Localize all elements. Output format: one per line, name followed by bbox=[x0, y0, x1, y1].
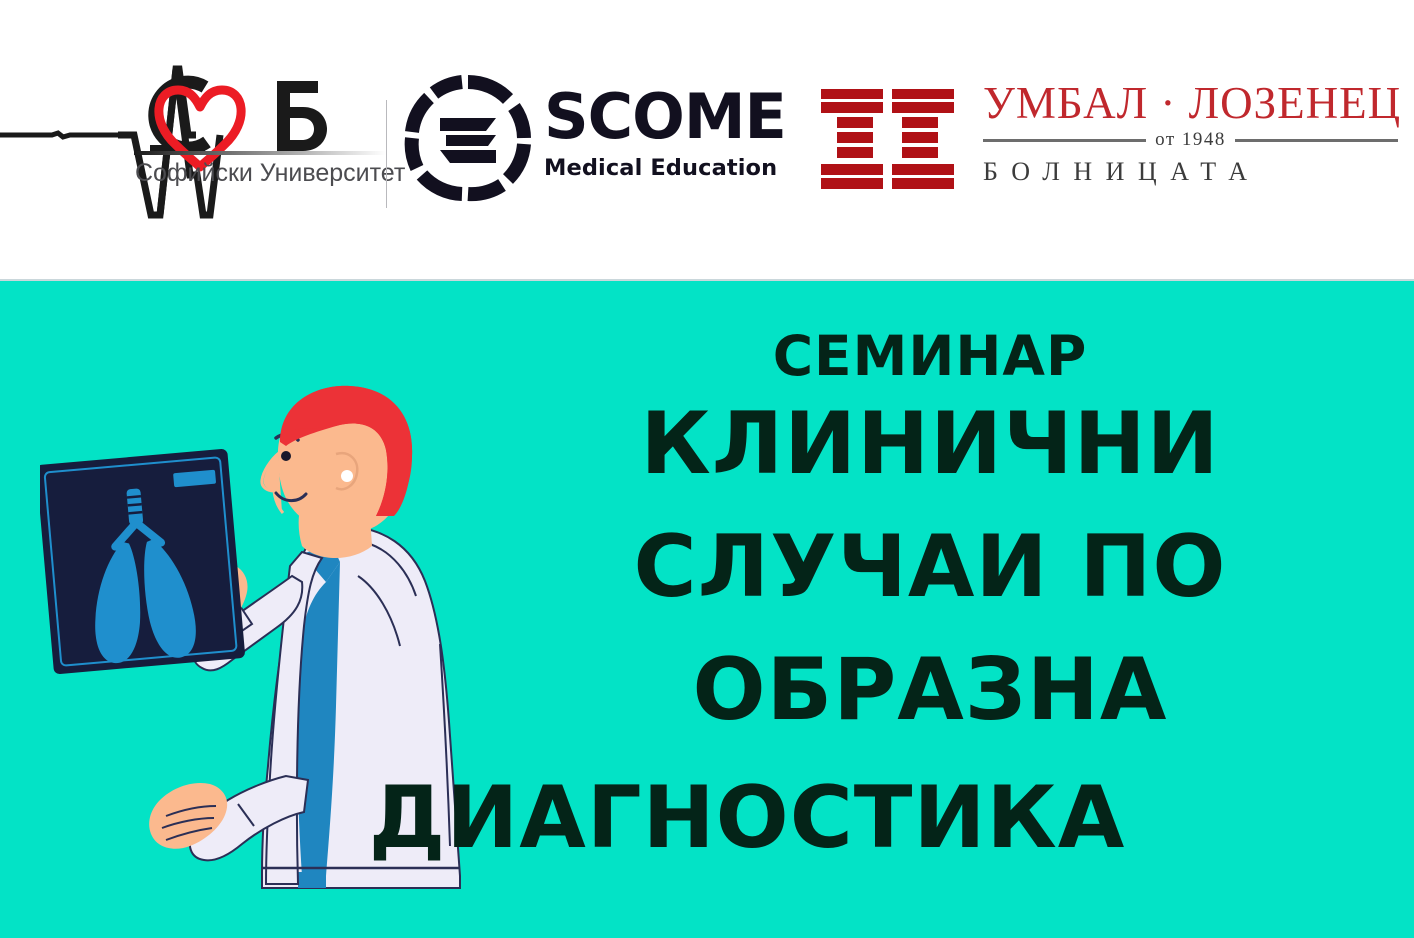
scome-wordmark-block: SCOME Medical Education bbox=[544, 88, 786, 181]
umbal-established-row: от 1948 bbox=[983, 129, 1398, 151]
title-line-3: ОБРАЗНА bbox=[500, 647, 1360, 733]
umbal-title: УМБАЛ · ЛОЗЕНЕЦ bbox=[983, 80, 1398, 127]
asmb-logo-caption: Софийски Университет bbox=[135, 159, 405, 188]
umbal-rule-left bbox=[983, 139, 1146, 142]
title-line-2: СЛУЧАИ ПО bbox=[500, 524, 1360, 610]
umbal-lozenets-hospital-logo: УМБАЛ · ЛОЗЕНЕЦ от 1948 БОЛНИЦАТА bbox=[815, 80, 1400, 202]
logo-divider bbox=[386, 100, 387, 208]
asmb-logo-graphic: С bbox=[0, 55, 386, 225]
title-line-1: КЛИНИЧНИ bbox=[500, 401, 1360, 487]
poster-canvas: С Софийски Университет bbox=[0, 0, 1414, 938]
logo-bar: С Софийски Университет bbox=[0, 0, 1414, 281]
umbal-established-year: от 1948 bbox=[1155, 129, 1226, 151]
main-teal-panel: СЕМИНАР КЛИНИЧНИ СЛУЧАИ ПО ОБРАЗНА ДИАГН… bbox=[0, 281, 1414, 938]
asmb-sofia-university-logo: С Софийски Университет bbox=[0, 55, 386, 225]
umbal-text-block: УМБАЛ · ЛОЗЕНЕЦ от 1948 БОЛНИЦАТА bbox=[983, 80, 1398, 187]
scome-tagline: Medical Education bbox=[544, 155, 786, 181]
panel-top-divider bbox=[0, 279, 1414, 281]
title-line-4: ДИАГНОСТИКА bbox=[369, 768, 1126, 868]
umbal-rule-right bbox=[1235, 139, 1398, 142]
seminar-kicker: СЕМИНАР bbox=[500, 329, 1360, 384]
umbal-subtitle: БОЛНИЦАТА bbox=[983, 157, 1398, 187]
scome-medical-education-logo: SCOME Medical Education bbox=[404, 72, 794, 207]
scome-circle-icon bbox=[404, 74, 532, 202]
title-line-4-wrap: ДИАГНОСТИКА bbox=[0, 775, 1414, 861]
scome-wordmark: SCOME bbox=[544, 88, 786, 147]
seminar-title-block: СЕМИНАР КЛИНИЧНИ СЛУЧАИ ПО ОБРАЗНА bbox=[500, 329, 1360, 733]
umbal-column-emblem-icon bbox=[815, 85, 960, 195]
